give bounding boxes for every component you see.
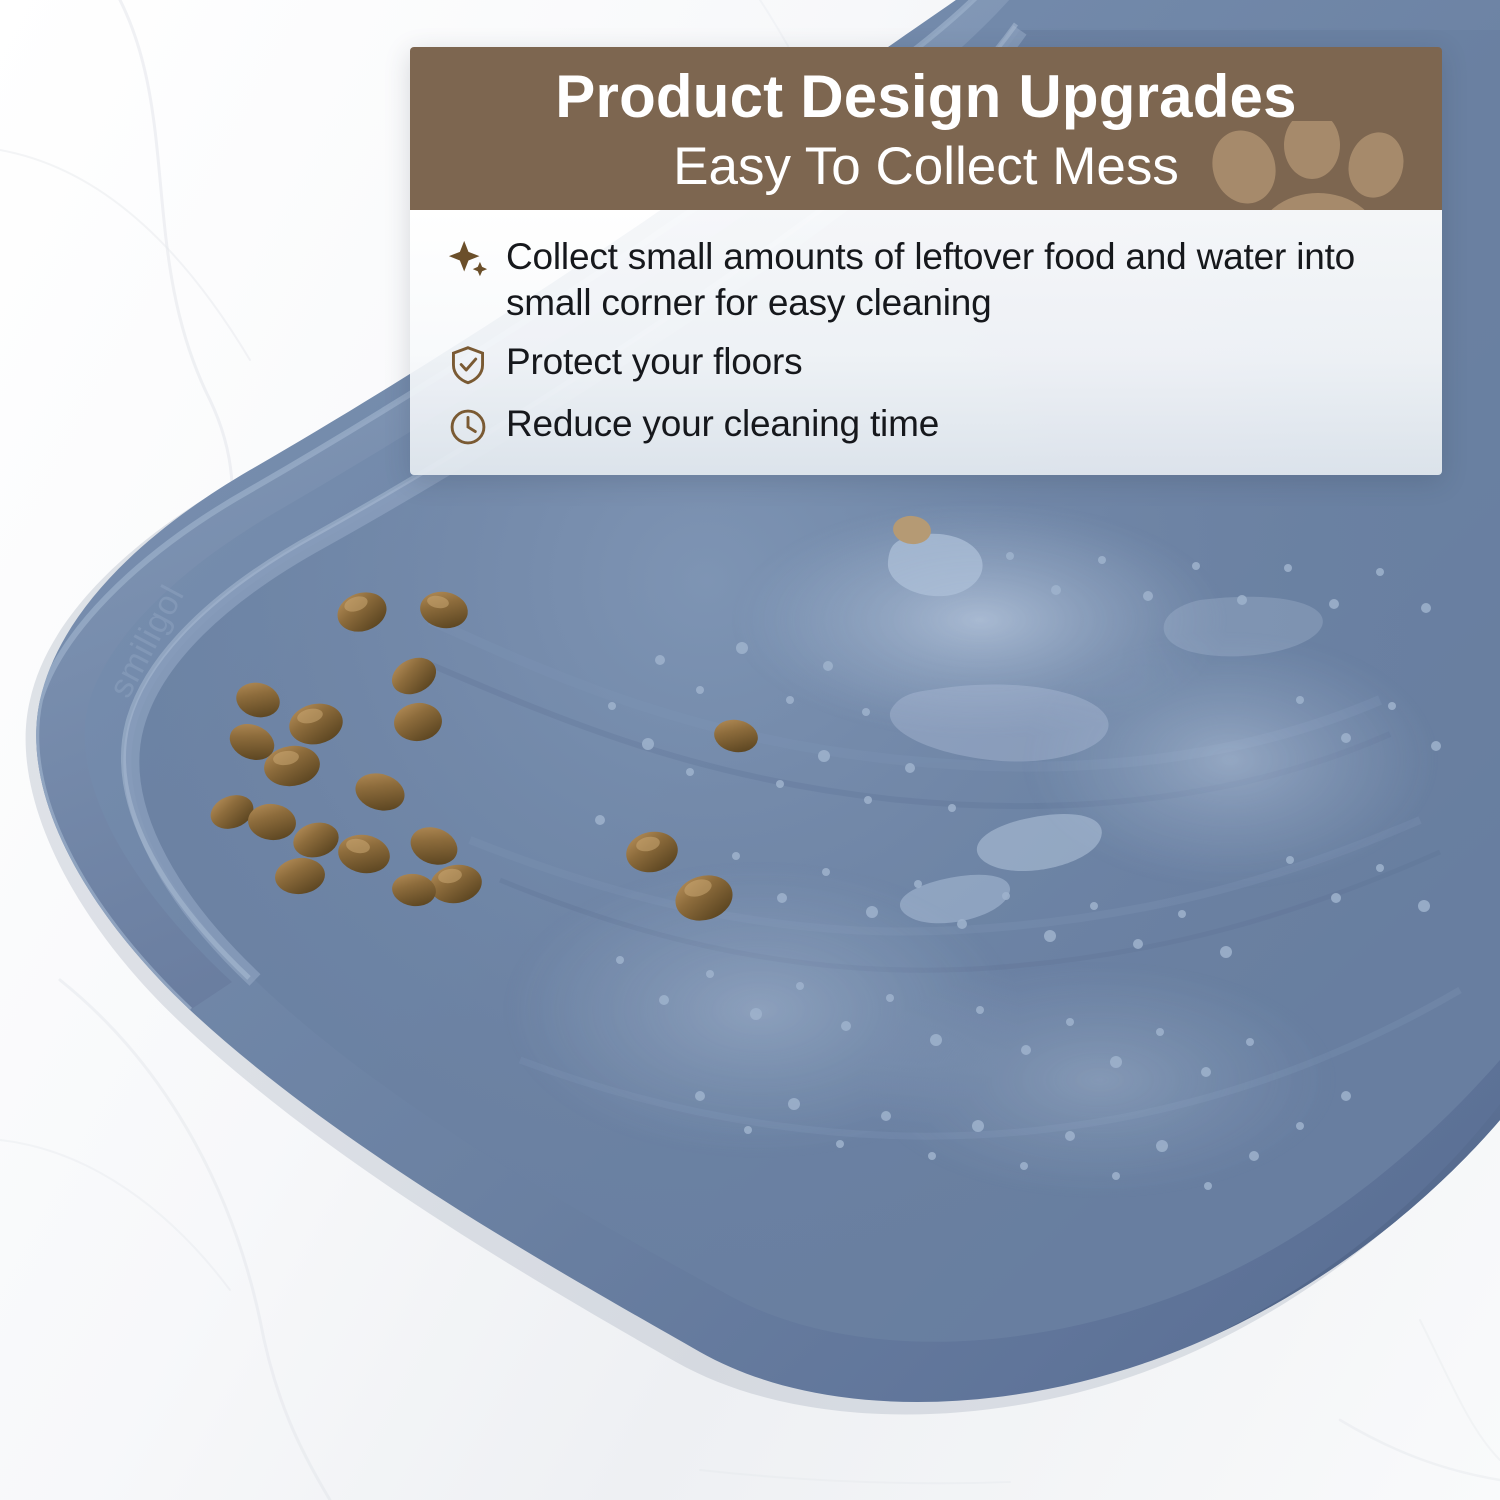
card-subtitle: Easy To Collect Mess bbox=[444, 138, 1408, 196]
card-title: Product Design Upgrades bbox=[444, 65, 1408, 130]
card-body: Collect small amounts of leftover food a… bbox=[410, 210, 1442, 475]
feature-item: Protect your floors bbox=[446, 339, 1412, 387]
feature-item: Collect small amounts of leftover food a… bbox=[446, 234, 1412, 325]
feature-text: Reduce your cleaning time bbox=[506, 401, 939, 447]
card-header: Product Design Upgrades Easy To Collect … bbox=[410, 47, 1442, 210]
clock-icon bbox=[446, 405, 490, 449]
feature-callout-card: Product Design Upgrades Easy To Collect … bbox=[410, 47, 1442, 475]
feature-text: Protect your floors bbox=[506, 339, 802, 385]
feature-text: Collect small amounts of leftover food a… bbox=[506, 234, 1412, 325]
product-infographic-image: smiligol bbox=[0, 0, 1500, 1500]
shield-check-icon bbox=[446, 343, 490, 387]
feature-item: Reduce your cleaning time bbox=[446, 401, 1412, 449]
sparkle-icon bbox=[446, 238, 490, 282]
